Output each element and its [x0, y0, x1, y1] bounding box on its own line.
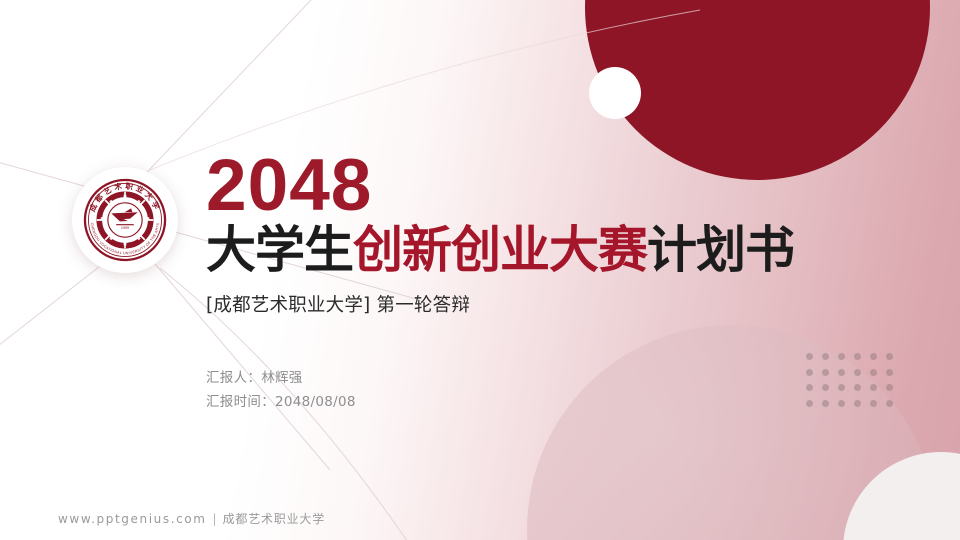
subtitle: [成都艺术职业大学] 第一轮答辩 [206, 291, 906, 317]
grid-dot [806, 353, 813, 360]
grid-dot [886, 369, 893, 376]
grid-dot [822, 400, 829, 407]
grid-dot [886, 353, 893, 360]
grid-dot [886, 400, 893, 407]
grid-dot [838, 400, 845, 407]
presentation-date: 汇报时间：2048/08/08 [206, 391, 356, 415]
presenter-name: 汇报人：林辉强 [206, 367, 356, 391]
grid-dot [838, 369, 845, 376]
grid-dot [822, 384, 829, 391]
year-heading: 2048 [206, 152, 906, 220]
main-headline: 大学生创新创业大赛计划书 [206, 224, 906, 277]
grid-dot [854, 384, 861, 391]
grid-dot [886, 384, 893, 391]
grid-dot [854, 400, 861, 407]
headline-segment-1: 大学生 [206, 221, 353, 279]
title-block: 2048 大学生创新创业大赛计划书 [成都艺术职业大学] 第一轮答辩 [206, 152, 906, 317]
footer-separator: | [213, 512, 217, 526]
presentation-slide: 成都艺术职业大学 CHENGDU VOCATIONAL UNIVERSITY O… [0, 0, 960, 540]
headline-segment-3: 计划书 [647, 221, 794, 279]
grid-dot [870, 369, 877, 376]
grid-dot [806, 400, 813, 407]
grid-dot [838, 353, 845, 360]
dot-grid-decoration [806, 353, 902, 415]
footer-organization: 成都艺术职业大学 [223, 512, 325, 526]
grid-dot [854, 353, 861, 360]
university-logo: 成都艺术职业大学 CHENGDU VOCATIONAL UNIVERSITY O… [72, 167, 178, 273]
grid-dot [870, 384, 877, 391]
footer-website: www.pptgenius.com [58, 512, 207, 526]
presenter-info: 汇报人：林辉强 汇报时间：2048/08/08 [206, 367, 356, 414]
grid-dot [854, 369, 861, 376]
grid-dot [822, 369, 829, 376]
grid-dot [806, 384, 813, 391]
grid-dot [870, 400, 877, 407]
grid-dot [822, 353, 829, 360]
footer: www.pptgenius.com|成都艺术职业大学 [58, 510, 325, 527]
headline-segment-2: 创新创业大赛 [353, 221, 647, 279]
svg-text:1999: 1999 [121, 226, 129, 230]
university-emblem-icon: 成都艺术职业大学 CHENGDU VOCATIONAL UNIVERSITY O… [81, 176, 169, 264]
grid-dot [870, 353, 877, 360]
grid-dot [838, 384, 845, 391]
grid-dot [806, 369, 813, 376]
